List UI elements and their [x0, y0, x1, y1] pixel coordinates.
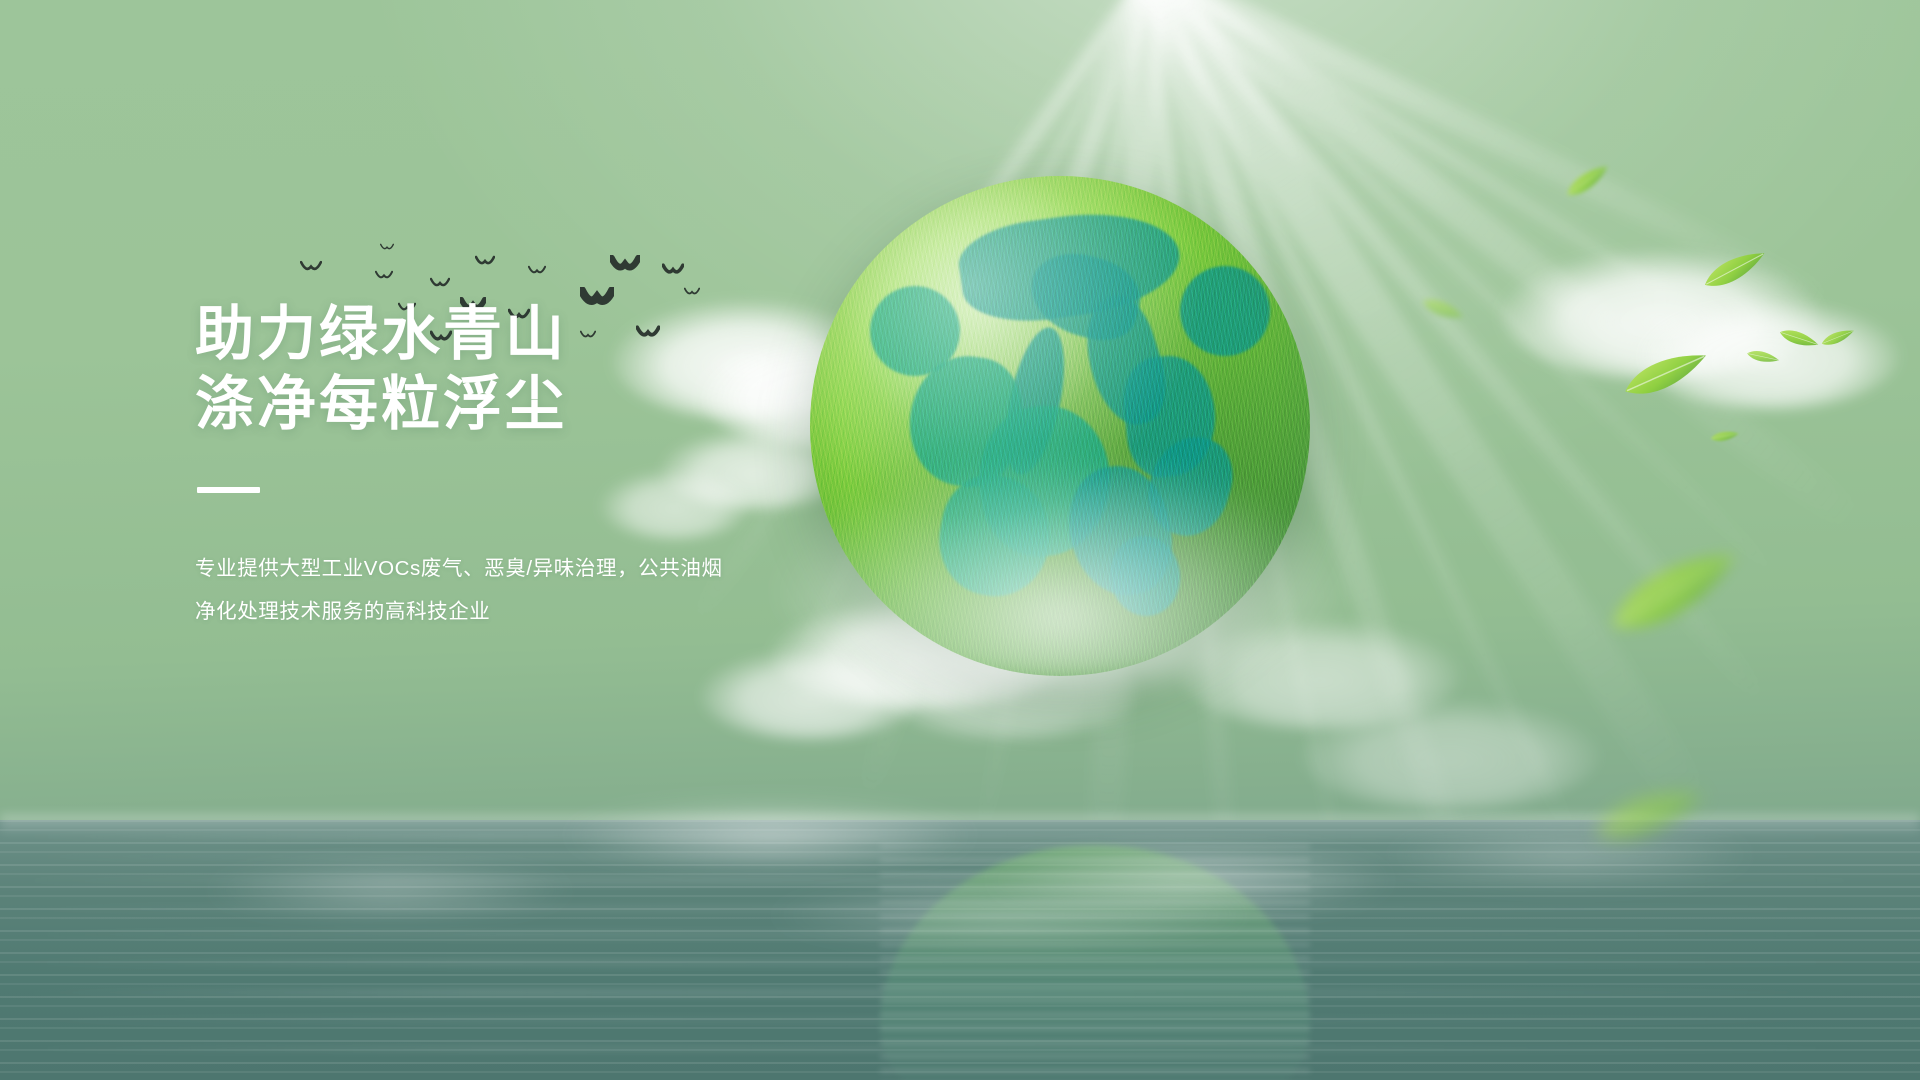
page-title: 助力绿水青山 涤净每粒浮尘	[195, 300, 815, 439]
leaf-icon	[1616, 338, 1716, 411]
cloud	[1300, 700, 1600, 810]
globe-landmass	[1105, 532, 1185, 621]
bird-icon	[610, 255, 640, 273]
leaf-icon	[1418, 292, 1468, 327]
globe-landmass	[975, 402, 1115, 561]
globe-landmass	[1072, 288, 1179, 433]
globe-landmass	[862, 278, 969, 385]
globe-sphere	[810, 176, 1310, 676]
globe-landmass	[901, 349, 1028, 493]
leaf-icon	[1818, 324, 1857, 351]
leaf-icon	[1594, 527, 1755, 657]
bird-icon	[300, 260, 322, 273]
mist-wisp	[1380, 820, 1760, 890]
bird-icon	[684, 287, 700, 297]
bird-icon	[380, 243, 394, 251]
hero-subtitle: 专业提供大型工业VOCs废气、恶臭/异味治理，公共油烟净化处理技术服务的高科技企…	[195, 547, 735, 633]
headline-line-1: 助力绿水青山	[195, 300, 815, 370]
globe-landmass	[1138, 427, 1242, 545]
headline-line-2: 涤净每粒浮尘	[195, 370, 815, 440]
globe-landmass	[1176, 262, 1275, 361]
mist-wisp	[200, 860, 580, 920]
leaf-icon	[1560, 157, 1615, 205]
leaf-icon	[1697, 240, 1773, 299]
leaf-icon	[1776, 324, 1821, 354]
globe-landmass	[1059, 458, 1180, 603]
leaf-icon	[1709, 427, 1741, 445]
bird-icon	[475, 255, 495, 267]
globe-landmass	[1022, 244, 1148, 348]
hero-banner: 助力绿水青山 涤净每粒浮尘 专业提供大型工业VOCs废气、恶臭/异味治理，公共油…	[0, 0, 1920, 1080]
bird-icon	[528, 265, 546, 276]
globe-landmass	[954, 201, 1186, 331]
bird-icon	[662, 263, 684, 276]
globe-landmass	[995, 322, 1075, 479]
mist-wisp	[560, 800, 980, 870]
hero-copy: 助力绿水青山 涤净每粒浮尘 专业提供大型工业VOCs废气、恶臭/异味治理，公共油…	[195, 300, 815, 633]
earth-globe	[810, 176, 1310, 676]
globe-landmass	[930, 467, 1059, 604]
globe-landmass	[1119, 352, 1221, 481]
bird-icon	[375, 270, 393, 281]
leaf-icon	[1745, 347, 1781, 368]
title-divider	[197, 487, 260, 493]
bird-icon	[430, 277, 450, 289]
mist-wisp	[760, 880, 1260, 950]
